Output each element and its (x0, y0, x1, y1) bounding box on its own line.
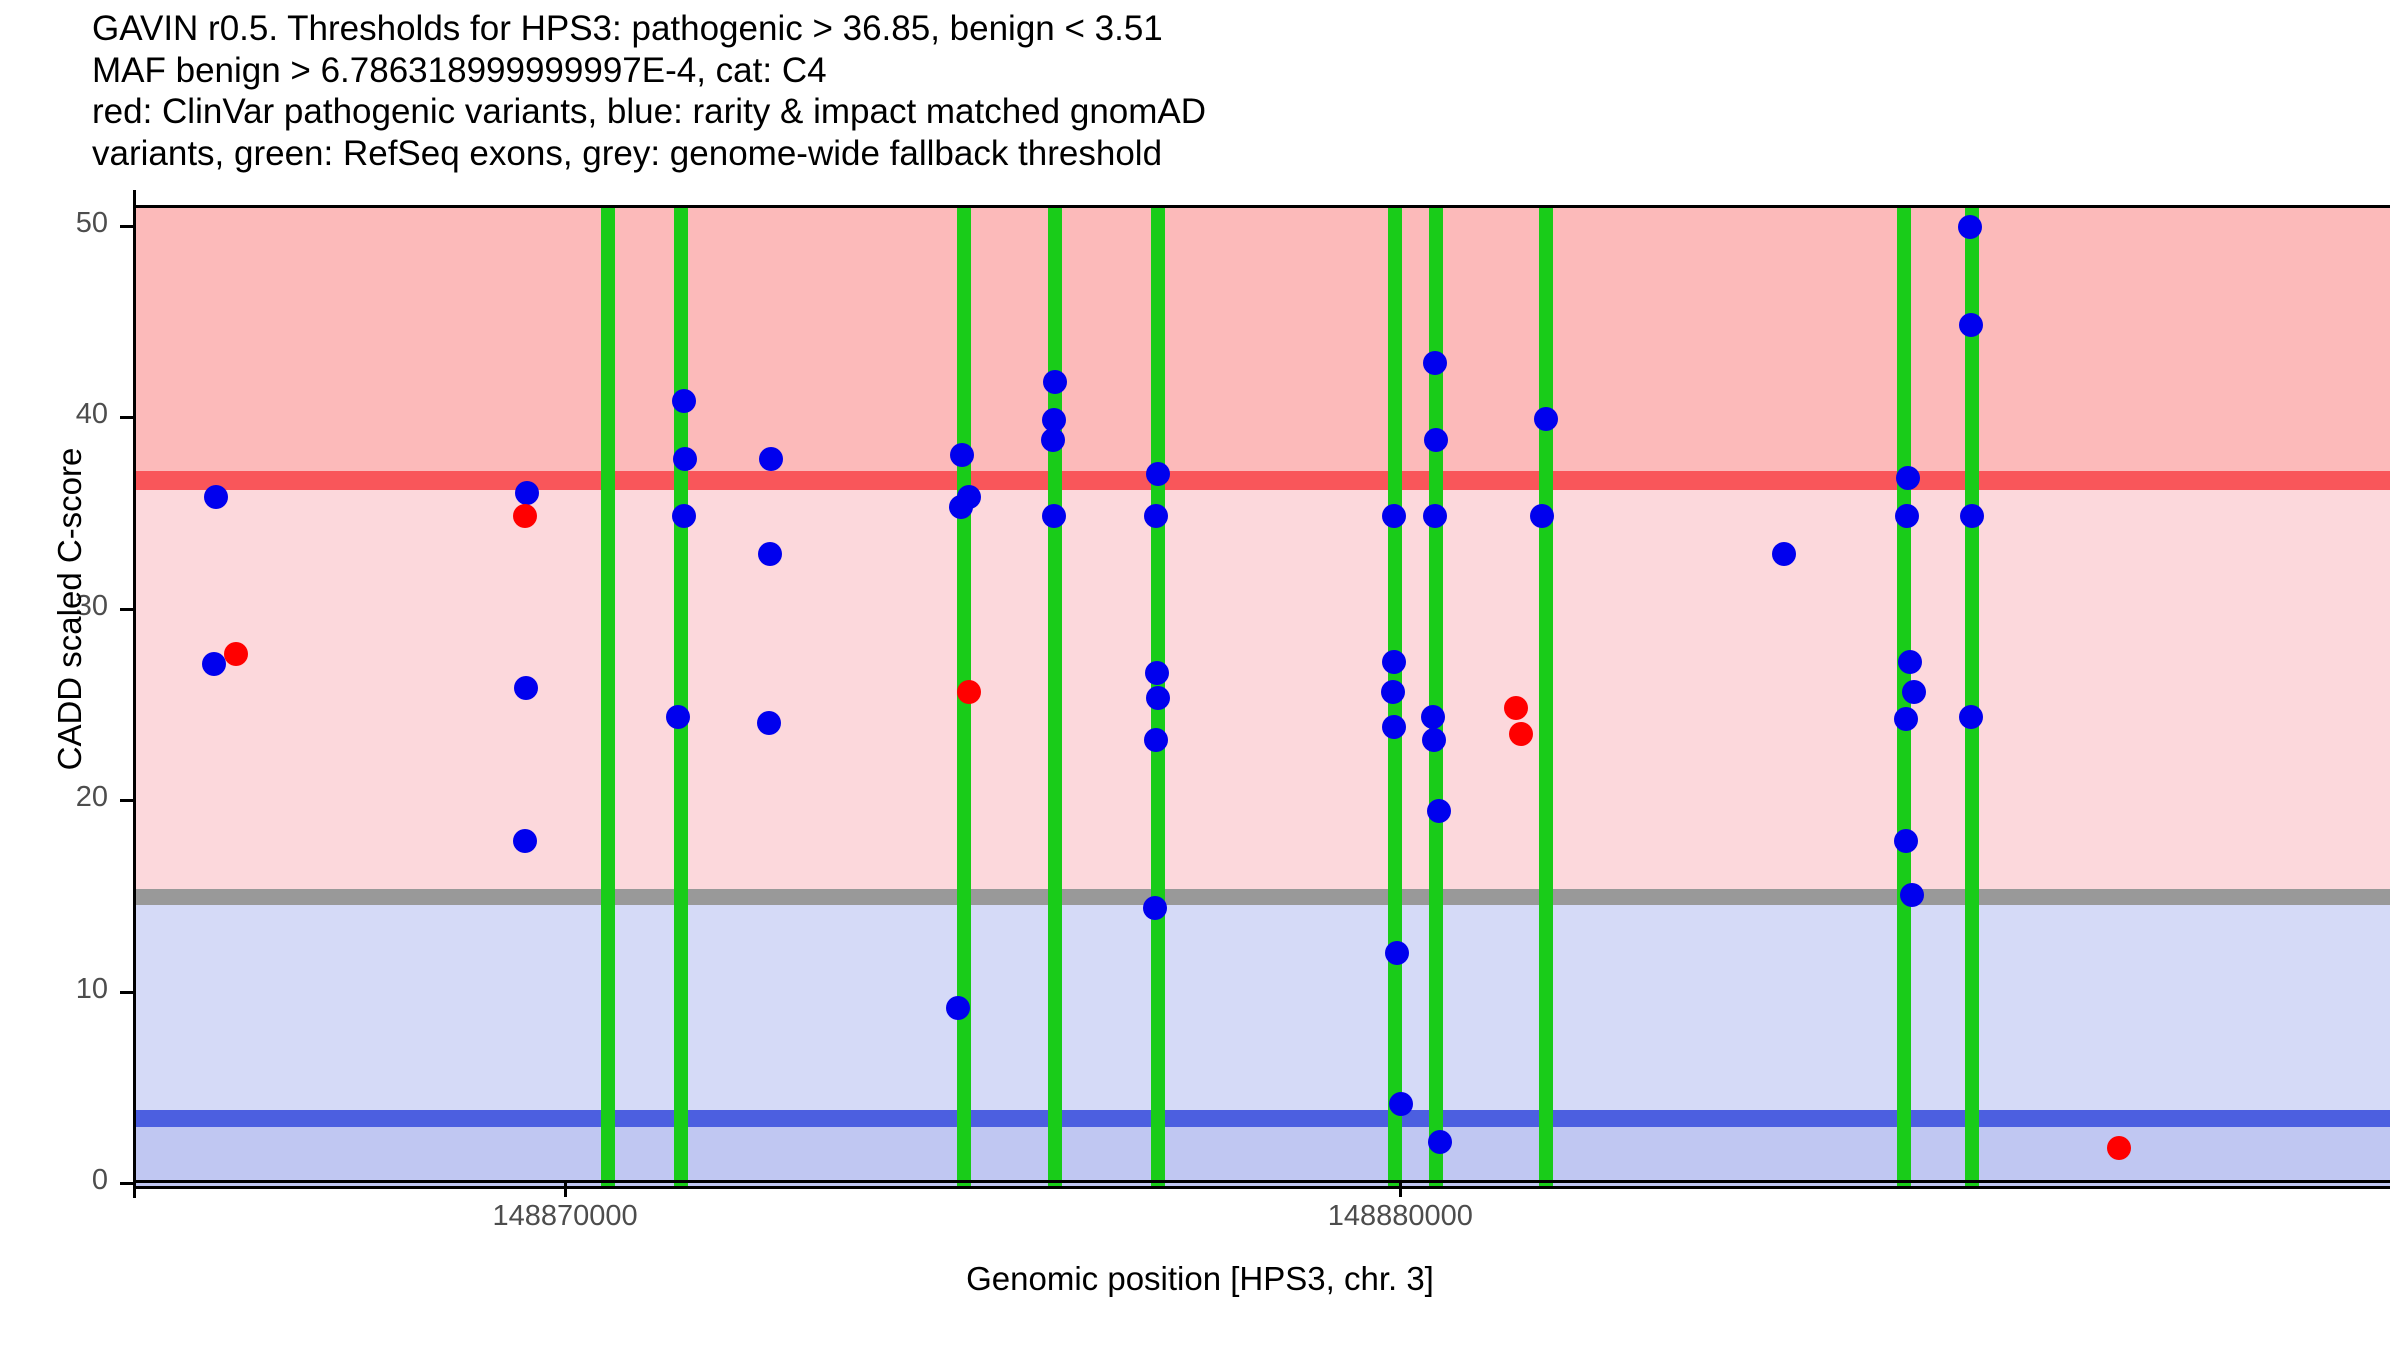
exon-marker (1048, 208, 1062, 1186)
benign-lower-band (135, 1119, 2390, 1186)
gnomad-variant-point (759, 447, 783, 471)
clinvar-variant-point (2107, 1136, 2131, 1160)
gnomad-variant-point (1042, 504, 1066, 528)
gnomad-variant-point (1382, 650, 1406, 674)
y-axis-tick (120, 225, 134, 228)
gnomad-variant-point (757, 711, 781, 735)
gnomad-variant-point (1534, 407, 1558, 431)
uncertain-band (135, 481, 2390, 897)
gnomad-variant-point (1146, 462, 1170, 486)
benign-threshold-line (135, 1110, 2390, 1127)
y-axis-title: CADD scaled C-score (51, 159, 89, 1059)
exon-marker (674, 208, 688, 1186)
x-axis-title: Genomic position [HPS3, chr. 3] (0, 1260, 2400, 1298)
gnomad-variant-point (673, 447, 697, 471)
gnomad-variant-point (1428, 1130, 1452, 1154)
x-axis-tick (1399, 1183, 1402, 1197)
clinvar-variant-point (1504, 696, 1528, 720)
gnomad-variant-point (957, 485, 981, 509)
gnomad-variant-point (515, 481, 539, 505)
chart-root: GAVIN r0.5. Thresholds for HPS3: pathoge… (0, 0, 2400, 1350)
benign-upper-band (135, 897, 2390, 1119)
plot-panel (135, 205, 2390, 1189)
x-axis-tick-label: 148870000 (415, 1200, 715, 1233)
y-axis-tick-label: 0 (18, 1164, 108, 1197)
gnomad-variant-point (672, 389, 696, 413)
gnomad-variant-point (204, 485, 228, 509)
x-axis-spine (133, 1180, 2390, 1183)
gnomad-variant-point (672, 504, 696, 528)
gnomad-variant-point (758, 542, 782, 566)
y-axis-tick (120, 416, 134, 419)
title-line-1: GAVIN r0.5. Thresholds for HPS3: pathoge… (92, 8, 2372, 50)
clinvar-variant-point (1509, 722, 1533, 746)
gnomad-variant-point (950, 443, 974, 467)
clinvar-variant-point (224, 642, 248, 666)
exon-marker (601, 208, 615, 1186)
gnomad-variant-point (1427, 799, 1451, 823)
gnomad-variant-point (1894, 707, 1918, 731)
gnomad-variant-point (1902, 680, 1926, 704)
x-axis-tick (564, 1183, 567, 1197)
gnomad-variant-point (1424, 428, 1448, 452)
gnomad-variant-point (946, 996, 970, 1020)
gnomad-variant-point (1382, 715, 1406, 739)
title-line-2: MAF benign > 6.786318999999997E-4, cat: … (92, 50, 2372, 92)
gnomad-variant-point (1422, 728, 1446, 752)
pathogenic-band (135, 208, 2390, 481)
y-axis-tick (120, 991, 134, 994)
gnomad-variant-point (1896, 466, 1920, 490)
x-axis-tick-label: 148880000 (1250, 1200, 1550, 1233)
gnomad-variant-point (1960, 504, 1984, 528)
gnomad-variant-point (1958, 215, 1982, 239)
pathogenic-threshold-line (135, 471, 2390, 490)
gnomad-variant-point (1389, 1092, 1413, 1116)
exon-marker (1539, 208, 1553, 1186)
exon-marker (1965, 208, 1979, 1186)
chart-title-block: GAVIN r0.5. Thresholds for HPS3: pathoge… (92, 8, 2372, 174)
clinvar-variant-point (513, 504, 537, 528)
gnomad-variant-point (666, 705, 690, 729)
title-line-3: red: ClinVar pathogenic variants, blue: … (92, 91, 2372, 133)
title-line-4: variants, green: RefSeq exons, grey: gen… (92, 133, 2372, 175)
y-axis-tick (120, 1182, 134, 1185)
gnomad-variant-point (1146, 686, 1170, 710)
gnomad-variant-point (1041, 428, 1065, 452)
gnomad-variant-point (1381, 680, 1405, 704)
y-axis-tick (120, 608, 134, 611)
y-axis-tick (120, 799, 134, 802)
gnomad-variant-point (1898, 650, 1922, 674)
gnomad-variant-point (1959, 313, 1983, 337)
gnomad-variant-point (1421, 705, 1445, 729)
fallback-threshold-line (135, 889, 2390, 905)
gnomad-variant-point (202, 652, 226, 676)
gnomad-variant-point (1385, 941, 1409, 965)
y-axis-spine (133, 190, 136, 1198)
gnomad-variant-point (1043, 370, 1067, 394)
gnomad-variant-point (1382, 504, 1406, 528)
gnomad-variant-point (1959, 705, 1983, 729)
